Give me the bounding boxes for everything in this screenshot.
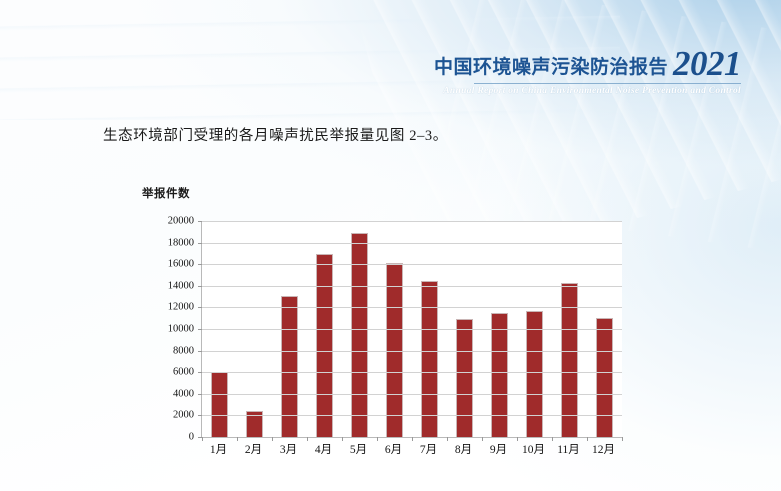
y-tick-mark xyxy=(198,351,202,352)
x-tick-label: 10月 xyxy=(522,441,545,457)
y-axis-title: 举报件数 xyxy=(142,185,190,201)
bar xyxy=(421,281,438,437)
y-tick-mark xyxy=(198,307,202,308)
x-tick-label: 4月 xyxy=(315,441,332,457)
x-tick-label: 2月 xyxy=(245,441,262,457)
gridline xyxy=(202,307,622,308)
x-tick-label: 9月 xyxy=(490,441,507,457)
banner-title-row: 中国环境噪声污染防治报告 2021 xyxy=(434,44,741,79)
x-axis-labels: 1月2月3月4月5月6月7月8月9月10月11月12月 xyxy=(201,441,622,461)
x-tick-label: 11月 xyxy=(557,441,580,457)
y-tick-mark xyxy=(198,286,202,287)
y-tick-mark xyxy=(198,264,202,265)
x-tick-label: 6月 xyxy=(385,441,402,457)
banner-divider xyxy=(474,83,741,84)
body-paragraph: 生态环境部门受理的各月噪声扰民举报量见图 2–3。 xyxy=(103,124,448,145)
monthly-noise-complaints-chart: 举报件数 1月2月3月4月5月6月7月8月9月10月11月12月 0200040… xyxy=(140,185,630,465)
x-tick-mark xyxy=(622,437,623,441)
y-tick-label: 20000 xyxy=(138,216,194,227)
report-year: 2021 xyxy=(673,46,741,81)
bar xyxy=(211,372,228,437)
bar xyxy=(316,254,333,437)
y-tick-label: 4000 xyxy=(138,388,194,399)
report-banner: 中国环境噪声污染防治报告 2021 Annual Report on China… xyxy=(434,44,741,97)
y-tick-mark xyxy=(198,329,202,330)
y-tick-label: 14000 xyxy=(138,280,194,291)
y-tick-mark xyxy=(198,415,202,416)
y-tick-label: 8000 xyxy=(138,345,194,356)
gridline xyxy=(202,329,622,330)
x-tick-label: 12月 xyxy=(592,441,615,457)
x-tick-label: 5月 xyxy=(350,441,367,457)
y-tick-mark xyxy=(198,243,202,244)
y-tick-label: 18000 xyxy=(138,237,194,248)
y-tick-label: 0 xyxy=(138,432,194,443)
chart-plot-area xyxy=(201,221,622,438)
bar xyxy=(596,318,613,437)
y-tick-label: 2000 xyxy=(138,410,194,421)
x-tick-label: 3月 xyxy=(280,441,297,457)
bar xyxy=(491,313,508,437)
gridline xyxy=(202,415,622,416)
gridline xyxy=(202,264,622,265)
y-tick-mark xyxy=(198,221,202,222)
bar xyxy=(561,283,578,437)
x-tick-label: 8月 xyxy=(455,441,472,457)
document-page: 中国环境噪声污染防治报告 2021 Annual Report on China… xyxy=(0,0,781,491)
x-tick-label: 7月 xyxy=(420,441,437,457)
gridline xyxy=(202,372,622,373)
y-tick-label: 16000 xyxy=(138,259,194,270)
gridline xyxy=(202,243,622,244)
gridline xyxy=(202,286,622,287)
y-tick-label: 6000 xyxy=(138,367,194,378)
gridline xyxy=(202,221,622,222)
report-title-cn: 中国环境噪声污染防治报告 xyxy=(434,58,668,77)
x-tick-label: 1月 xyxy=(210,441,227,457)
gridline xyxy=(202,351,622,352)
gridline xyxy=(202,394,622,395)
y-tick-mark xyxy=(198,394,202,395)
y-tick-label: 10000 xyxy=(138,324,194,335)
y-tick-mark xyxy=(198,372,202,373)
bar xyxy=(456,319,473,437)
report-subtitle-en: Annual Report on China Environmental Noi… xyxy=(434,87,741,97)
y-tick-label: 12000 xyxy=(138,302,194,313)
